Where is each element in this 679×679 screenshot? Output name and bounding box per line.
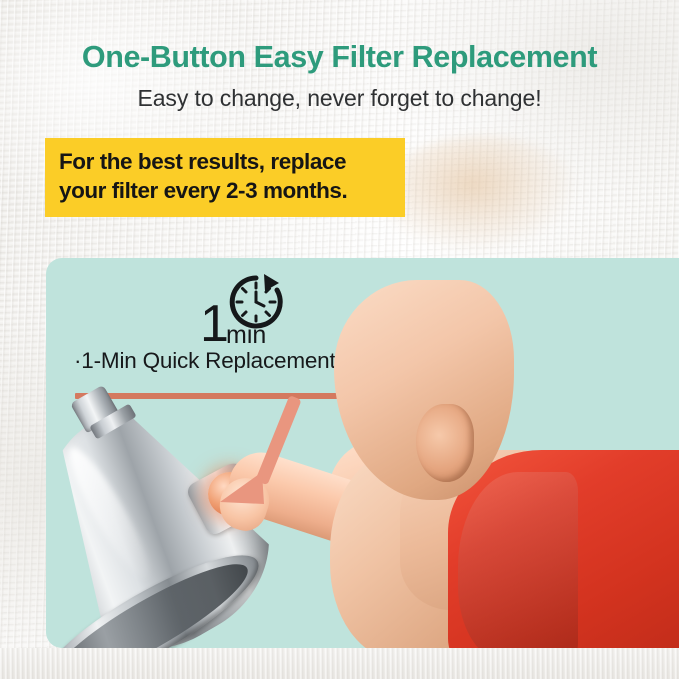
clock-refresh-icon [224,270,288,334]
child-hair-highlight [382,136,582,256]
product-feature-image: 1 min [0,0,679,679]
press-here-arrow-icon [210,380,330,520]
callout-line-1: For the best results, replace [59,147,391,176]
page-subtitle: Easy to change, never forget to change! [0,85,679,112]
callout-line-2: your filter every 2-3 months. [59,176,391,205]
feature-label: ·1-Min Quick Replacement [74,348,336,374]
wall-bottom-strip [0,648,679,679]
child-shirt-fold [458,472,578,662]
quick-replacement-badge: 1 min [162,270,312,352]
page-title: One-Button Easy Filter Replacement [0,40,679,75]
replacement-callout: For the best results, replace your filte… [45,138,405,217]
